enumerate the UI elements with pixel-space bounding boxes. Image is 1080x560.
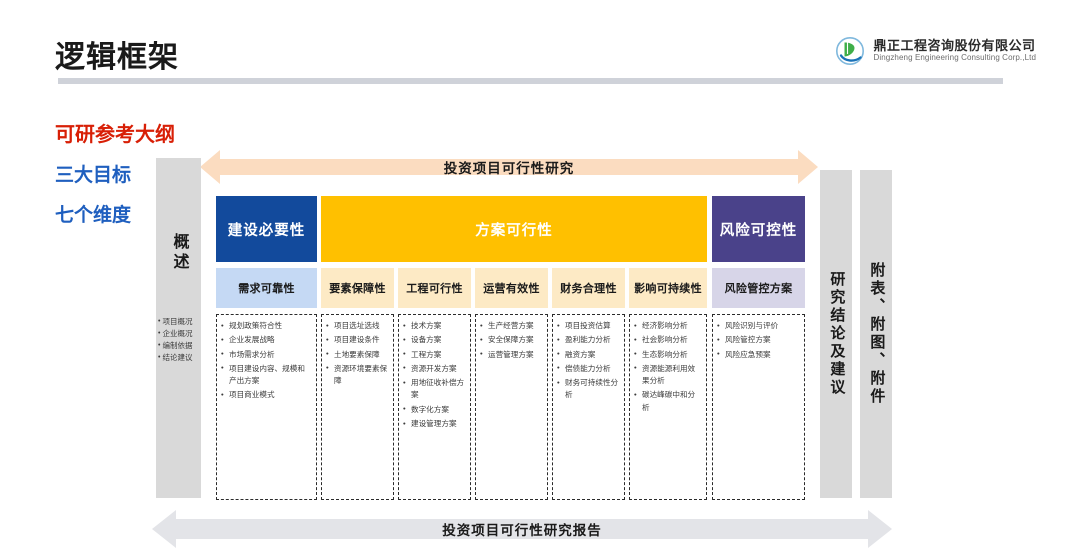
column-conclusions-label: 研究结论及建议 [827, 271, 846, 397]
bullet-icon: • [158, 328, 160, 340]
column-conclusions: 研究结论及建议 [820, 170, 852, 498]
detail-item: 项目建设内容、规模和产出方案 [221, 363, 312, 388]
detail-item-list: 生产经营方案安全保障方案运营管理方案 [480, 320, 543, 361]
detail-item: 工程方案 [403, 349, 466, 361]
detail-item: 数字化方案 [403, 404, 466, 416]
logic-framework-diagram: 投资项目可行性研究 概述 •项目概况•企业概况•编制依据•结论建议 建设必要性 … [0, 0, 1080, 560]
pillar-scheme-feasibility[interactable]: 方案可行性 [321, 196, 707, 262]
detail-item: 资源开发方案 [403, 363, 466, 375]
detail-item-list: 规划政策符合性企业发展战略市场需求分析项目建设内容、规模和产出方案项目商业模式 [221, 320, 312, 402]
detail-item: 市场需求分析 [221, 349, 312, 361]
detail-item-list: 技术方案设备方案工程方案资源开发方案用地征收补偿方案数字化方案建设管理方案 [403, 320, 466, 430]
top-arrow-label: 投资项目可行性研究 [200, 148, 818, 186]
detail-item: 风险识别与评价 [717, 320, 800, 332]
detail-item: 项目商业模式 [221, 389, 312, 401]
detail-item: 风险管控方案 [717, 334, 800, 346]
dimension-detail-box-1: 规划政策符合性企业发展战略市场需求分析项目建设内容、规模和产出方案项目商业模式 [216, 314, 317, 500]
column-appendix: 附表、附图、附件 [860, 170, 892, 498]
bullet-icon: • [158, 352, 160, 364]
dimension-header-7[interactable]: 风险管控方案 [712, 268, 805, 308]
column-overview-title: 概述 [169, 233, 189, 273]
detail-item: 资源能源利用效果分析 [634, 363, 702, 388]
overview-item: •项目概况 [158, 316, 202, 328]
overview-item-label: 编制依据 [162, 340, 192, 352]
overview-item-list: •项目概况•企业概况•编制依据•结论建议 [158, 316, 202, 365]
dimension-header-5[interactable]: 财务合理性 [552, 268, 625, 308]
detail-item: 项目建设条件 [326, 334, 389, 346]
overview-item: •结论建议 [158, 352, 202, 364]
dimension-header-2[interactable]: 要素保障性 [321, 268, 394, 308]
pillar-risk-controllability[interactable]: 风险可控性 [712, 196, 805, 262]
dimension-detail-box-2: 项目选址选线项目建设条件土地要素保障资源环境要素保障 [321, 314, 394, 500]
overview-item-label: 项目概况 [162, 316, 192, 328]
dimension-detail-box-5: 项目投资估算盈利能力分析融资方案偿债能力分析财务可持续性分析 [552, 314, 625, 500]
dimension-header-3[interactable]: 工程可行性 [398, 268, 471, 308]
detail-item: 设备方案 [403, 334, 466, 346]
dimension-header-4[interactable]: 运营有效性 [475, 268, 548, 308]
dimension-detail-box-3: 技术方案设备方案工程方案资源开发方案用地征收补偿方案数字化方案建设管理方案 [398, 314, 471, 500]
detail-item: 经济影响分析 [634, 320, 702, 332]
top-arrow: 投资项目可行性研究 [200, 148, 818, 186]
detail-item: 规划政策符合性 [221, 320, 312, 332]
detail-item: 用地征收补偿方案 [403, 377, 466, 402]
detail-item-list: 项目投资估算盈利能力分析融资方案偿债能力分析财务可持续性分析 [557, 320, 620, 402]
column-appendix-label: 附表、附图、附件 [867, 262, 886, 406]
detail-item: 运营管理方案 [480, 349, 543, 361]
detail-item: 土地要素保障 [326, 349, 389, 361]
detail-item-list: 风险识别与评价风险管控方案风险应急预案 [717, 320, 800, 361]
overview-item: •企业概况 [158, 328, 202, 340]
detail-item: 建设管理方案 [403, 418, 466, 430]
detail-item: 盈利能力分析 [557, 334, 620, 346]
bullet-icon: • [158, 340, 160, 352]
dimension-header-6[interactable]: 影响可持续性 [629, 268, 707, 308]
detail-item-list: 项目选址选线项目建设条件土地要素保障资源环境要素保障 [326, 320, 389, 387]
dimension-detail-box-6: 经济影响分析社会影响分析生态影响分析资源能源利用效果分析碳达峰碳中和分析 [629, 314, 707, 500]
overview-item-label: 结论建议 [162, 352, 192, 364]
bottom-arrow-label: 投资项目可行性研究报告 [152, 508, 892, 550]
detail-item: 项目投资估算 [557, 320, 620, 332]
detail-item: 碳达峰碳中和分析 [634, 389, 702, 414]
detail-item: 社会影响分析 [634, 334, 702, 346]
detail-item: 风险应急预案 [717, 349, 800, 361]
dimension-detail-box-7: 风险识别与评价风险管控方案风险应急预案 [712, 314, 805, 500]
pillar-construction-necessity[interactable]: 建设必要性 [216, 196, 317, 262]
overview-item: •编制依据 [158, 340, 202, 352]
overview-item-label: 企业概况 [162, 328, 192, 340]
bottom-arrow: 投资项目可行性研究报告 [152, 508, 892, 550]
detail-item: 技术方案 [403, 320, 466, 332]
dimension-header-1[interactable]: 需求可靠性 [216, 268, 317, 308]
detail-item-list: 经济影响分析社会影响分析生态影响分析资源能源利用效果分析碳达峰碳中和分析 [634, 320, 702, 414]
detail-item: 资源环境要素保障 [326, 363, 389, 388]
detail-item: 生产经营方案 [480, 320, 543, 332]
bullet-icon: • [158, 316, 160, 328]
detail-item: 企业发展战略 [221, 334, 312, 346]
detail-item: 财务可持续性分析 [557, 377, 620, 402]
detail-item: 偿债能力分析 [557, 363, 620, 375]
dimension-detail-box-4: 生产经营方案安全保障方案运营管理方案 [475, 314, 548, 500]
detail-item: 项目选址选线 [326, 320, 389, 332]
detail-item: 融资方案 [557, 349, 620, 361]
detail-item: 生态影响分析 [634, 349, 702, 361]
detail-item: 安全保障方案 [480, 334, 543, 346]
